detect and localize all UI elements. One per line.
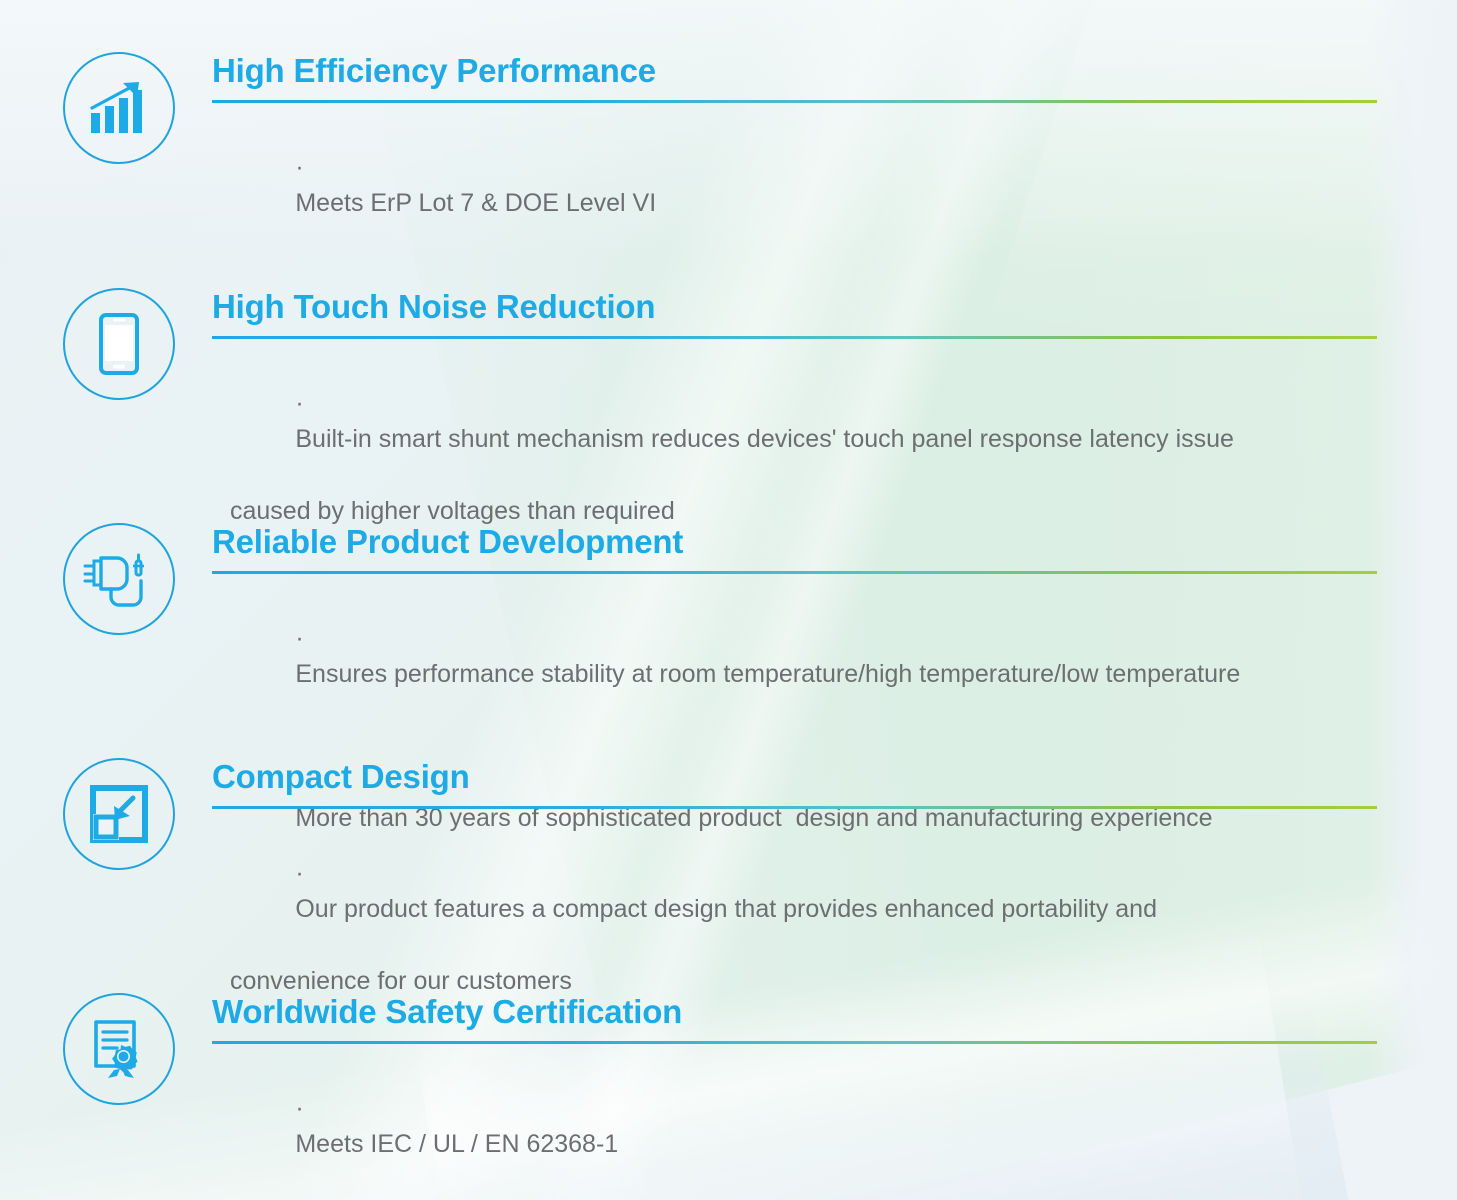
feature-divider [212, 806, 1377, 809]
feature-bullet-line: · Meets ErP Lot 7 & DOE Level VI [212, 113, 1377, 257]
feature-bullet-line: · Ensures performance stability at room … [212, 584, 1377, 728]
feature-divider [212, 100, 1377, 103]
feature-description: · Meets IEC / UL / EN 62368-1 [212, 1054, 1377, 1198]
feature-icon-wrap [63, 758, 175, 870]
feature-icon-wrap [63, 288, 175, 400]
feature-title: High Touch Noise Reduction [212, 288, 1377, 326]
background-right-edge-fade [1367, 0, 1457, 1200]
bullet-mark: · [295, 859, 303, 887]
bar-chart-growth-icon [63, 52, 175, 164]
feature-icon-wrap [63, 993, 175, 1105]
feature-icon-wrap [63, 523, 175, 635]
smartphone-icon [63, 288, 175, 400]
bullet-text: Meets IEC / UL / EN 62368-1 [295, 1130, 618, 1158]
feature-title: Worldwide Safety Certification [212, 993, 1377, 1031]
feature-highlights-page: High Efficiency Performance · Meets ErP … [0, 0, 1457, 1200]
bullet-mark: · [295, 389, 303, 417]
compact-shrink-icon [63, 758, 175, 870]
feature-divider [212, 336, 1377, 339]
bullet-text: Ensures performance stability at room te… [295, 660, 1240, 688]
bullet-mark: · [295, 153, 303, 181]
bullet-text: Meets ErP Lot 7 & DOE Level VI [295, 189, 656, 217]
feature-divider [212, 1041, 1377, 1044]
bullet-mark: · [295, 1094, 303, 1122]
feature-title: High Efficiency Performance [212, 52, 1377, 90]
feature-body: High Efficiency Performance · Meets ErP … [212, 52, 1377, 257]
bullet-mark: · [295, 624, 303, 652]
certificate-seal-icon [63, 993, 175, 1105]
feature-body: Worldwide Safety Certification · Meets I… [212, 993, 1377, 1198]
feature-description: · Meets ErP Lot 7 & DOE Level VI [212, 113, 1377, 257]
feature-bullet-line: · Meets IEC / UL / EN 62368-1 [212, 1054, 1377, 1198]
feature-title: Compact Design [212, 758, 1377, 796]
feature-title: Reliable Product Development [212, 523, 1377, 561]
bullet-text: Our product features a compact design th… [295, 895, 1157, 923]
bullet-text: Built-in smart shunt mechanism reduces d… [295, 425, 1234, 453]
power-adapter-icon [63, 523, 175, 635]
feature-divider [212, 571, 1377, 574]
feature-icon-wrap [63, 52, 175, 164]
